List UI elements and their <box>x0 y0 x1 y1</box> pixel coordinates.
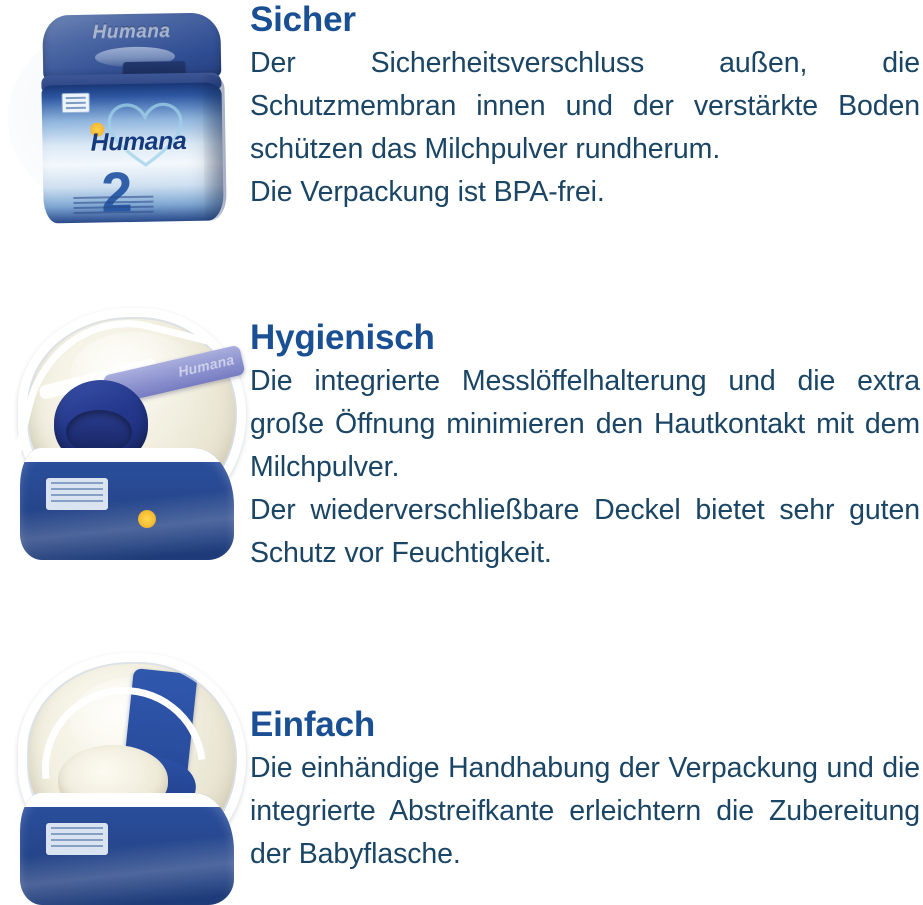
feature-image-einfach <box>0 645 250 880</box>
feature-image-hygienisch: Humana <box>0 300 250 600</box>
tin-front-white-edge <box>20 448 234 462</box>
humana-tin-open-with-scoop-image: Humana <box>4 300 252 560</box>
feature-paragraph-1: Der Sicherheitsverschluss außen, die Sch… <box>250 42 920 171</box>
nutrition-badge-icon <box>62 93 90 113</box>
feature-paragraph-2: Die Verpackung ist BPA-frei. <box>250 171 920 214</box>
tin-body-label: Humana 2 <box>41 82 223 223</box>
feature-block-hygienisch: Humana Hygienisch Die integrierte Messlö <box>0 300 923 600</box>
feature-heading-einfach: Einfach <box>250 705 920 745</box>
tin-brand-wordmark: Humana <box>68 127 208 158</box>
tin-front-panel <box>20 793 234 905</box>
tin-front-white-edge <box>20 793 234 807</box>
tin-side-shading <box>202 74 227 220</box>
formula-tin: Humana Humana 2 <box>36 12 225 220</box>
feature-block-einfach: Einfach Die einhändige Handhabung der Ve… <box>0 645 923 880</box>
tin-fine-print <box>73 196 153 217</box>
open-formula-tin <box>18 653 243 898</box>
sun-icon <box>138 510 156 528</box>
feature-image-sicher: Humana Humana 2 <box>0 0 250 250</box>
feature-paragraph-2: Der wiederverschließbare Deckel bietet s… <box>250 489 920 575</box>
feature-paragraph-1: Die integrierte Messlöffelhalterung und … <box>250 360 920 489</box>
feature-copy-sicher: Sicher Der Sicherheitsverschluss außen, … <box>250 0 923 250</box>
feature-heading-hygienisch: Hygienisch <box>250 318 920 358</box>
lid-embossed-brand: Humana <box>72 20 190 44</box>
tin-front-panel <box>20 448 234 560</box>
humana-formula-tin-closed-image: Humana Humana 2 <box>8 6 244 226</box>
feature-copy-hygienisch: Hygienisch Die integrierte Messlöffelhal… <box>250 300 923 600</box>
open-formula-tin: Humana <box>18 308 243 553</box>
feature-heading-sicher: Sicher <box>250 0 920 40</box>
product-features-panel: Humana Humana 2 <box>0 0 923 880</box>
feature-paragraph-1: Die einhändige Handhabung der Verpackung… <box>250 747 920 876</box>
feature-copy-einfach: Einfach Die einhändige Handhabung der Ve… <box>250 645 923 880</box>
feature-block-sicher: Humana Humana 2 <box>0 0 923 250</box>
humana-tin-open-with-leveling-edge-image <box>4 645 252 905</box>
